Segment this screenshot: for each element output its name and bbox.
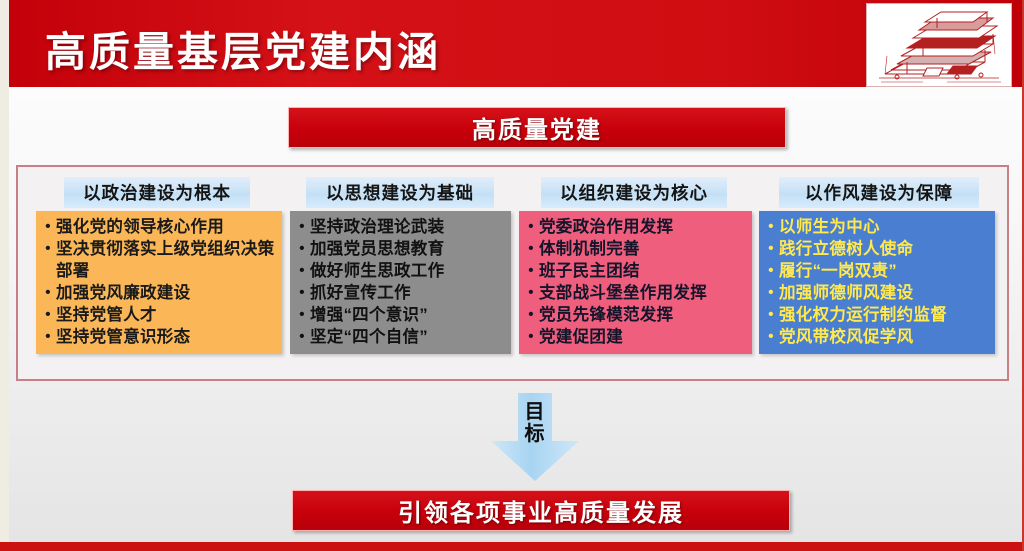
list-item: •党建促团建 [523,326,748,348]
pillars-panel: 以政治建设为根本 •强化党的领导核心作用 •坚决贯彻落实上级党组织决策部署 •加… [16,165,1009,381]
bottom-accent-bar [0,542,1024,551]
bullet-icon: • [523,282,539,304]
bullet-icon: • [40,304,56,326]
top-ribbon-label: 高质量党建 [472,110,602,145]
list-item: •增强“四个意识” [294,304,507,326]
bullet-icon: • [523,216,539,238]
pillar-4-body: •以师生为中心 •践行立德树人使命 •履行“一岗双责” •加强师德师风建设 •强… [759,211,995,354]
pillar-4-header: 以作风建设为保障 [779,177,979,208]
pillar-column-2: 以思想建设为基础 •坚持政治理论武装 •加强党员思想教育 •做好师生思政工作 •… [290,177,511,354]
building-sketch-icon [866,3,1012,87]
list-item: •抓好宣传工作 [294,282,507,304]
bullet-icon: • [523,326,539,348]
pillar-column-1: 以政治建设为根本 •强化党的领导核心作用 •坚决贯彻落实上级党组织决策部署 •加… [36,177,282,354]
list-item: •加强师德师风建设 [763,282,991,304]
list-item: •党员先锋模范发挥 [523,304,748,326]
bullet-icon: • [294,216,310,238]
list-item: •班子民主团结 [523,260,748,282]
pillar-1-header: 以政治建设为根本 [64,177,250,208]
pillar-column-4: 以作风建设为保障 •以师生为中心 •践行立德树人使命 •履行“一岗双责” •加强… [759,177,995,354]
list-item: •践行立德树人使命 [763,238,991,260]
bottom-ribbon-label: 引领各项事业高质量发展 [398,493,684,528]
bullet-icon: • [294,260,310,282]
bullet-icon: • [40,282,56,304]
pillar-2-header: 以思想建设为基础 [306,177,494,208]
bullet-icon: • [40,326,56,348]
list-item: •坚持党管人才 [40,304,278,326]
bullet-icon: • [40,216,56,238]
pillar-1-body: •强化党的领导核心作用 •坚决贯彻落实上级党组织决策部署 •加强党风廉政建设 •… [36,211,282,354]
top-ribbon: 高质量党建 [288,107,786,148]
goal-arrow-label: 目 标 [487,401,583,445]
list-item: •体制机制完善 [523,238,748,260]
goal-arrow: 目 标 [487,393,583,481]
bullet-icon: • [294,326,310,348]
bullet-icon: • [763,326,779,348]
list-item: •强化党的领导核心作用 [40,216,278,238]
pillar-2-body: •坚持政治理论武装 •加强党员思想教育 •做好师生思政工作 •抓好宣传工作 •增… [290,211,511,354]
list-item: •加强党风廉政建设 [40,282,278,304]
bullet-icon: • [763,282,779,304]
list-item: •支部战斗堡垒作用发挥 [523,282,748,304]
bullet-icon: • [294,304,310,326]
list-item: •党风带校风促学风 [763,326,991,348]
list-item: •坚定“四个自信” [294,326,507,348]
list-item: •坚持政治理论武装 [294,216,507,238]
list-item: •加强党员思想教育 [294,238,507,260]
bullet-icon: • [523,238,539,260]
bottom-ribbon: 引领各项事业高质量发展 [292,490,790,531]
bullet-icon: • [523,260,539,282]
pillar-3-body: •党委政治作用发挥 •体制机制完善 •班子民主团结 •支部战斗堡垒作用发挥 •党… [519,211,752,354]
list-item: •强化权力运行制约监督 [763,304,991,326]
list-item: •履行“一岗双责” [763,260,991,282]
goal-label-line2: 标 [487,423,583,445]
bullet-icon: • [40,238,56,260]
list-item: •坚持党管意识形态 [40,326,278,348]
pillar-column-3: 以组织建设为核心 •党委政治作用发挥 •体制机制完善 •班子民主团结 •支部战斗… [519,177,752,354]
bullet-icon: • [763,304,779,326]
bullet-icon: • [294,282,310,304]
bullet-icon: • [763,216,779,238]
bullet-icon: • [294,238,310,260]
list-item: •做好师生思政工作 [294,260,507,282]
page-title: 高质量基层党建内涵 [45,18,441,78]
bullet-icon: • [523,304,539,326]
bullet-icon: • [763,238,779,260]
list-item: •以师生为中心 [763,216,991,238]
list-item: •党委政治作用发挥 [523,216,748,238]
left-edge-strip [0,0,9,551]
goal-label-line1: 目 [487,401,583,423]
bullet-icon: • [763,260,779,282]
pillar-3-header: 以组织建设为核心 [541,177,727,208]
slide-canvas: 高质量基层党建内涵 [0,0,1024,551]
list-item: •坚决贯彻落实上级党组织决策部署 [40,238,278,282]
